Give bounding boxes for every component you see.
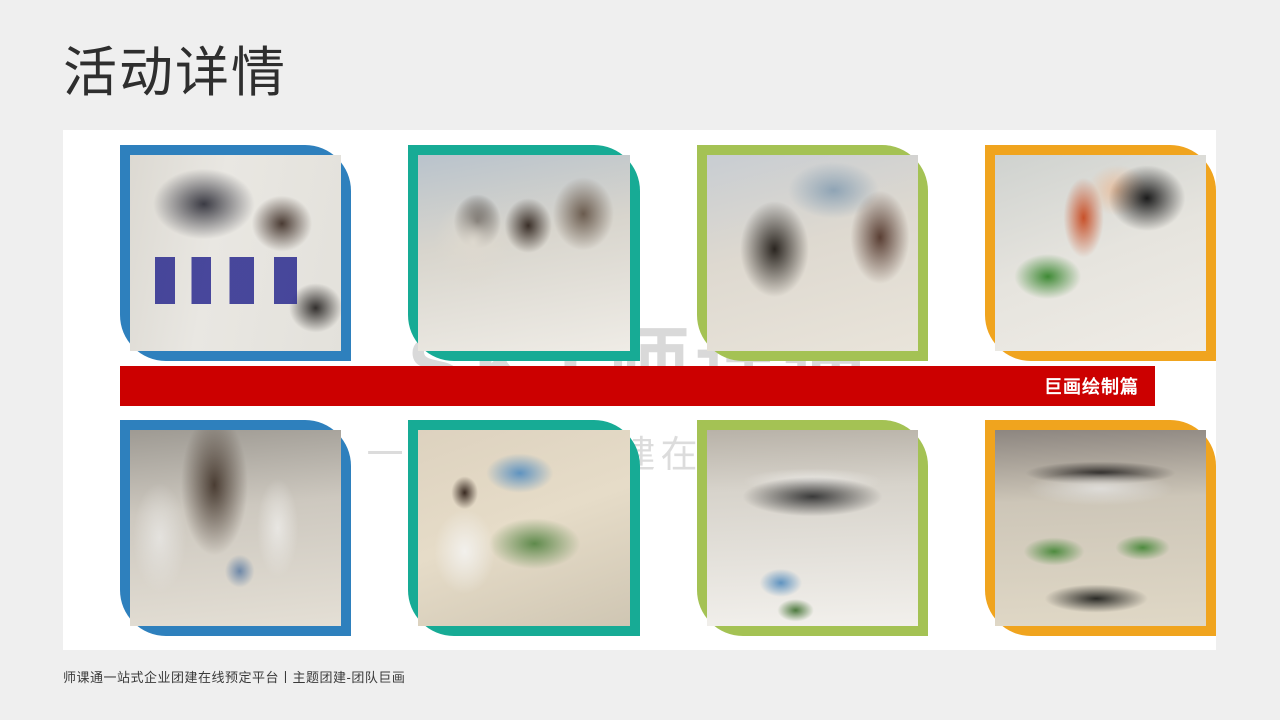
photo-card[interactable] [697, 420, 928, 636]
photo-image [707, 430, 918, 626]
photo-image [418, 155, 629, 351]
photo-image [707, 155, 918, 351]
photo-card[interactable] [985, 145, 1216, 361]
photo-image [130, 155, 341, 351]
photo-card[interactable] [408, 145, 639, 361]
photo-artwork [418, 430, 629, 626]
photo-artwork [130, 155, 341, 351]
photo-artwork [130, 430, 341, 626]
page-title: 活动详情 [63, 44, 287, 103]
photo-image [130, 430, 341, 626]
photo-card[interactable] [120, 420, 351, 636]
photo-row-top [63, 145, 1216, 365]
photo-image [418, 430, 629, 626]
photo-artwork [995, 430, 1206, 626]
photo-artwork [707, 430, 918, 626]
footer-note: 师课通一站式企业团建在线预定平台丨主题团建-团队巨画 [63, 667, 405, 686]
photo-card[interactable] [697, 145, 928, 361]
photo-image [995, 155, 1206, 351]
photo-card[interactable] [120, 145, 351, 361]
section-banner-label: 巨画绘制篇 [1044, 373, 1139, 399]
photo-card[interactable] [985, 420, 1216, 636]
section-banner: 巨画绘制篇 [120, 366, 1155, 406]
photo-row-bottom [63, 420, 1216, 640]
photo-image [995, 430, 1206, 626]
photo-artwork [418, 155, 629, 351]
photo-card[interactable] [408, 420, 639, 636]
content-panel: SKT师课通 一站式企业团建在线预订平台 巨画绘制篇 [63, 130, 1216, 650]
photo-artwork [995, 155, 1206, 351]
photo-artwork [707, 155, 918, 351]
